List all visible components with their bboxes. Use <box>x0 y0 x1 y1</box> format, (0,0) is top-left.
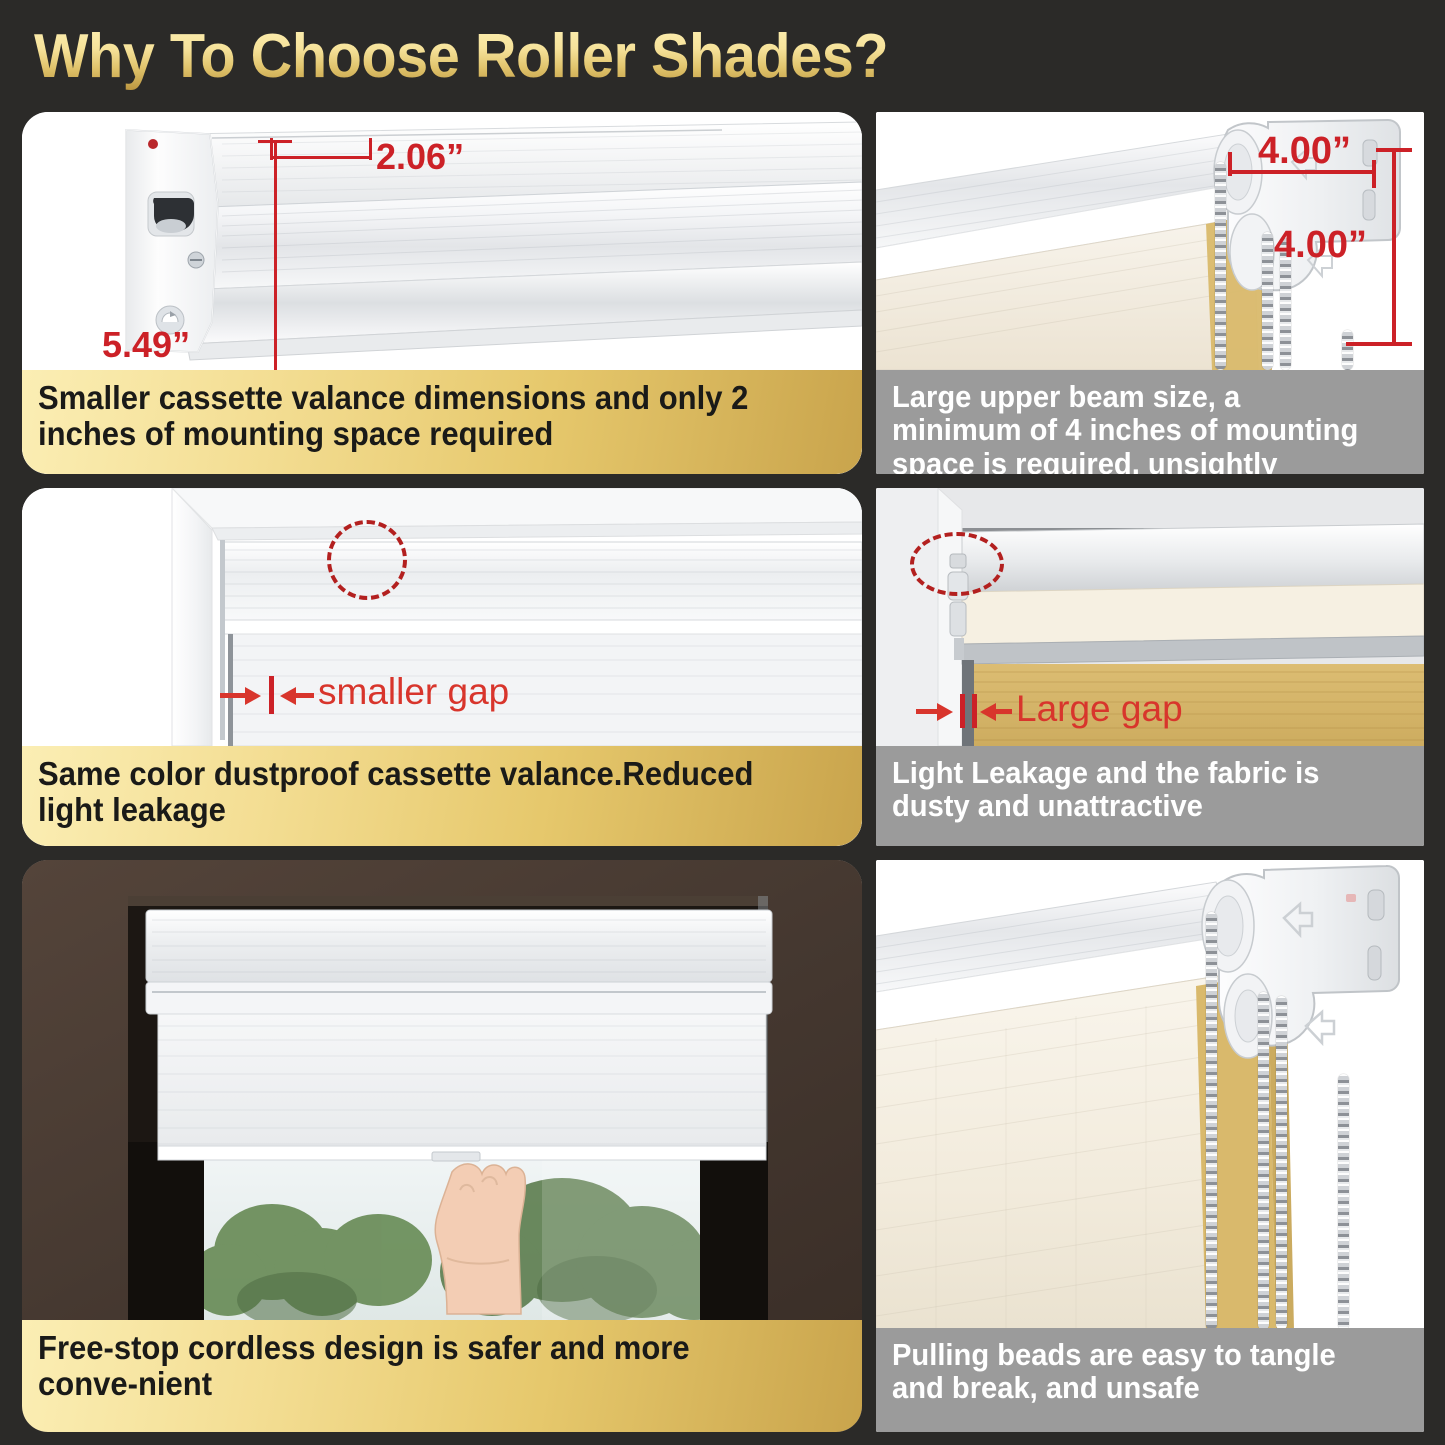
width-dim-tick-right <box>369 138 372 160</box>
gap-bar-left <box>960 694 965 728</box>
beam-width-tick-left <box>1228 152 1232 176</box>
beam-width-tick-right <box>1372 160 1376 188</box>
bead-chain-3 <box>1276 996 1287 1330</box>
panel-1-caption: Smaller cassette valance dimensions and … <box>22 370 862 474</box>
panel-1: 2.06” 5.49” Smaller cassette valance dim… <box>22 112 862 474</box>
beam-height-dim-line <box>1392 148 1396 346</box>
gap-arrow-right-tail <box>996 709 1012 714</box>
gap-arrow-left-tail <box>220 693 246 698</box>
width-dimension-label: 2.06” <box>376 136 464 178</box>
panel-3-caption-text: Same color dustproof cassette valance.Re… <box>38 756 798 827</box>
panel-6-caption-text: Pulling beads are easy to tangle and bre… <box>892 1338 1377 1405</box>
bead-chain-2 <box>1258 992 1269 1330</box>
panel-2-caption-text: Large upper beam size, a minimum of 4 in… <box>892 380 1377 474</box>
gap-bar-right <box>972 694 977 728</box>
beam-height-tick-bottom <box>1346 342 1412 346</box>
gap-arrow-right-tail <box>296 693 314 698</box>
panel-3: smaller gap Same color dustproof cassett… <box>22 488 862 846</box>
panel-2: 4.00” 4.00” Large upper beam size, a min… <box>876 112 1424 474</box>
beam-width-label: 4.00” <box>1258 130 1351 173</box>
height-dim-tick-top <box>258 140 292 143</box>
panel-2-caption: Large upper beam size, a minimum of 4 in… <box>876 370 1424 474</box>
gap-bar <box>269 676 274 714</box>
bead-chain-1 <box>1206 912 1217 1330</box>
beam-height-tick-top <box>1376 148 1412 152</box>
highlight-circle-icon <box>910 532 1004 596</box>
bead-chain-4 <box>1342 330 1353 370</box>
bead-chain-2 <box>1262 232 1273 370</box>
bead-chain-1 <box>1215 162 1226 370</box>
panel-6-caption: Pulling beads are easy to tangle and bre… <box>876 1328 1424 1432</box>
page-title: Why To Choose Roller Shades? <box>34 22 1057 92</box>
width-dim-line <box>270 156 372 159</box>
gap-arrow-left-head <box>245 687 261 705</box>
gap-arrow-right-head <box>280 687 296 705</box>
gap-arrow-left-head <box>937 703 953 721</box>
panel-6: Pulling beads are easy to tangle and bre… <box>876 860 1424 1432</box>
beam-height-label: 4.00” <box>1274 224 1367 267</box>
panel-4-caption-text: Light Leakage and the fabric is dusty an… <box>892 756 1377 823</box>
gap-arrow-left-tail <box>916 709 938 714</box>
highlight-circle-icon <box>327 520 407 600</box>
bead-chain-4 <box>1338 1074 1349 1330</box>
infographic-page: Why To Choose Roller Shades? <box>0 0 1445 1445</box>
gap-callout-label: smaller gap <box>318 671 509 713</box>
gap-arrow-right-head <box>980 703 996 721</box>
panel-5-caption: Free-stop cordless design is safer and m… <box>22 1320 862 1432</box>
panel-5: Free-stop cordless design is safer and m… <box>22 860 862 1432</box>
panel-4-caption: Light Leakage and the fabric is dusty an… <box>876 746 1424 846</box>
gap-callout-label: Large gap <box>1016 688 1183 730</box>
height-dimension-label: 5.49” <box>102 324 190 366</box>
panel-1-caption-text: Smaller cassette valance dimensions and … <box>38 380 798 451</box>
panel-3-caption: Same color dustproof cassette valance.Re… <box>22 746 862 846</box>
panel-4: Large gap Light Leakage and the fabric i… <box>876 488 1424 846</box>
panel-5-caption-text: Free-stop cordless design is safer and m… <box>38 1330 798 1401</box>
